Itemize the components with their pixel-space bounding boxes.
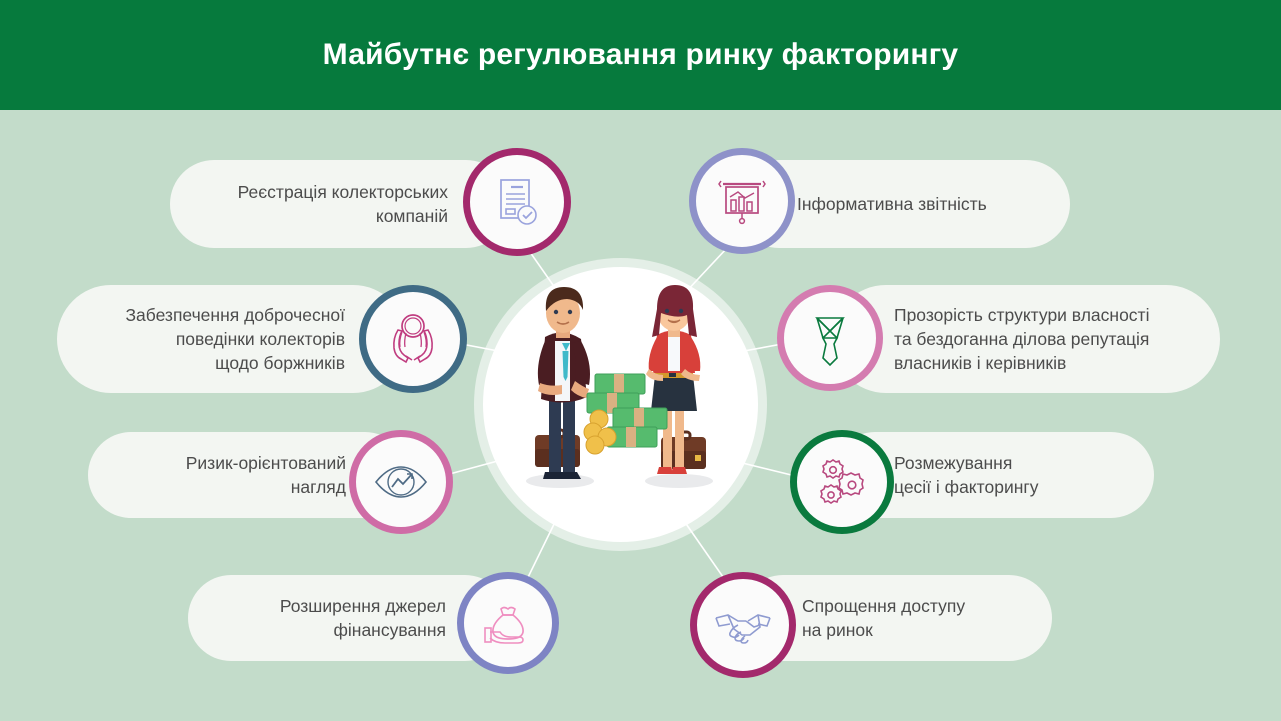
- page-title: Майбутнє регулювання ринку факторингу: [0, 0, 1281, 110]
- business-people-money-illustration: [483, 267, 758, 542]
- businessman-figure: [535, 287, 590, 479]
- document-check-icon[interactable]: [463, 148, 571, 256]
- infographic-stage: Реєстрація колекторськихкомпаній Забезпе…: [0, 110, 1281, 721]
- presentation-chart-icon[interactable]: [689, 148, 795, 254]
- eye-chart-icon[interactable]: [349, 430, 453, 534]
- handshake-icon[interactable]: [690, 572, 796, 678]
- item-label: Забезпечення доброчесноїповедінки колект…: [57, 303, 407, 375]
- infographic-canvas: Майбутнє регулювання ринку факторингу: [0, 0, 1281, 721]
- item-label: Реєстрація колекторськихкомпаній: [170, 180, 510, 228]
- necktie-icon[interactable]: [777, 285, 883, 391]
- center-illustration-circle: [483, 267, 758, 542]
- item-label: Прозорість структури власностіта бездога…: [832, 303, 1220, 375]
- gears-icon[interactable]: [790, 430, 894, 534]
- money-bag-in-hand-icon[interactable]: [457, 572, 559, 674]
- caring-hands-icon[interactable]: [359, 285, 467, 393]
- item-label-pill: Прозорість структури власностіта бездога…: [832, 285, 1220, 393]
- item-label-pill: Забезпечення доброчесноїповедінки колект…: [57, 285, 407, 393]
- item-label-pill: Реєстрація колекторськихкомпаній: [170, 160, 510, 248]
